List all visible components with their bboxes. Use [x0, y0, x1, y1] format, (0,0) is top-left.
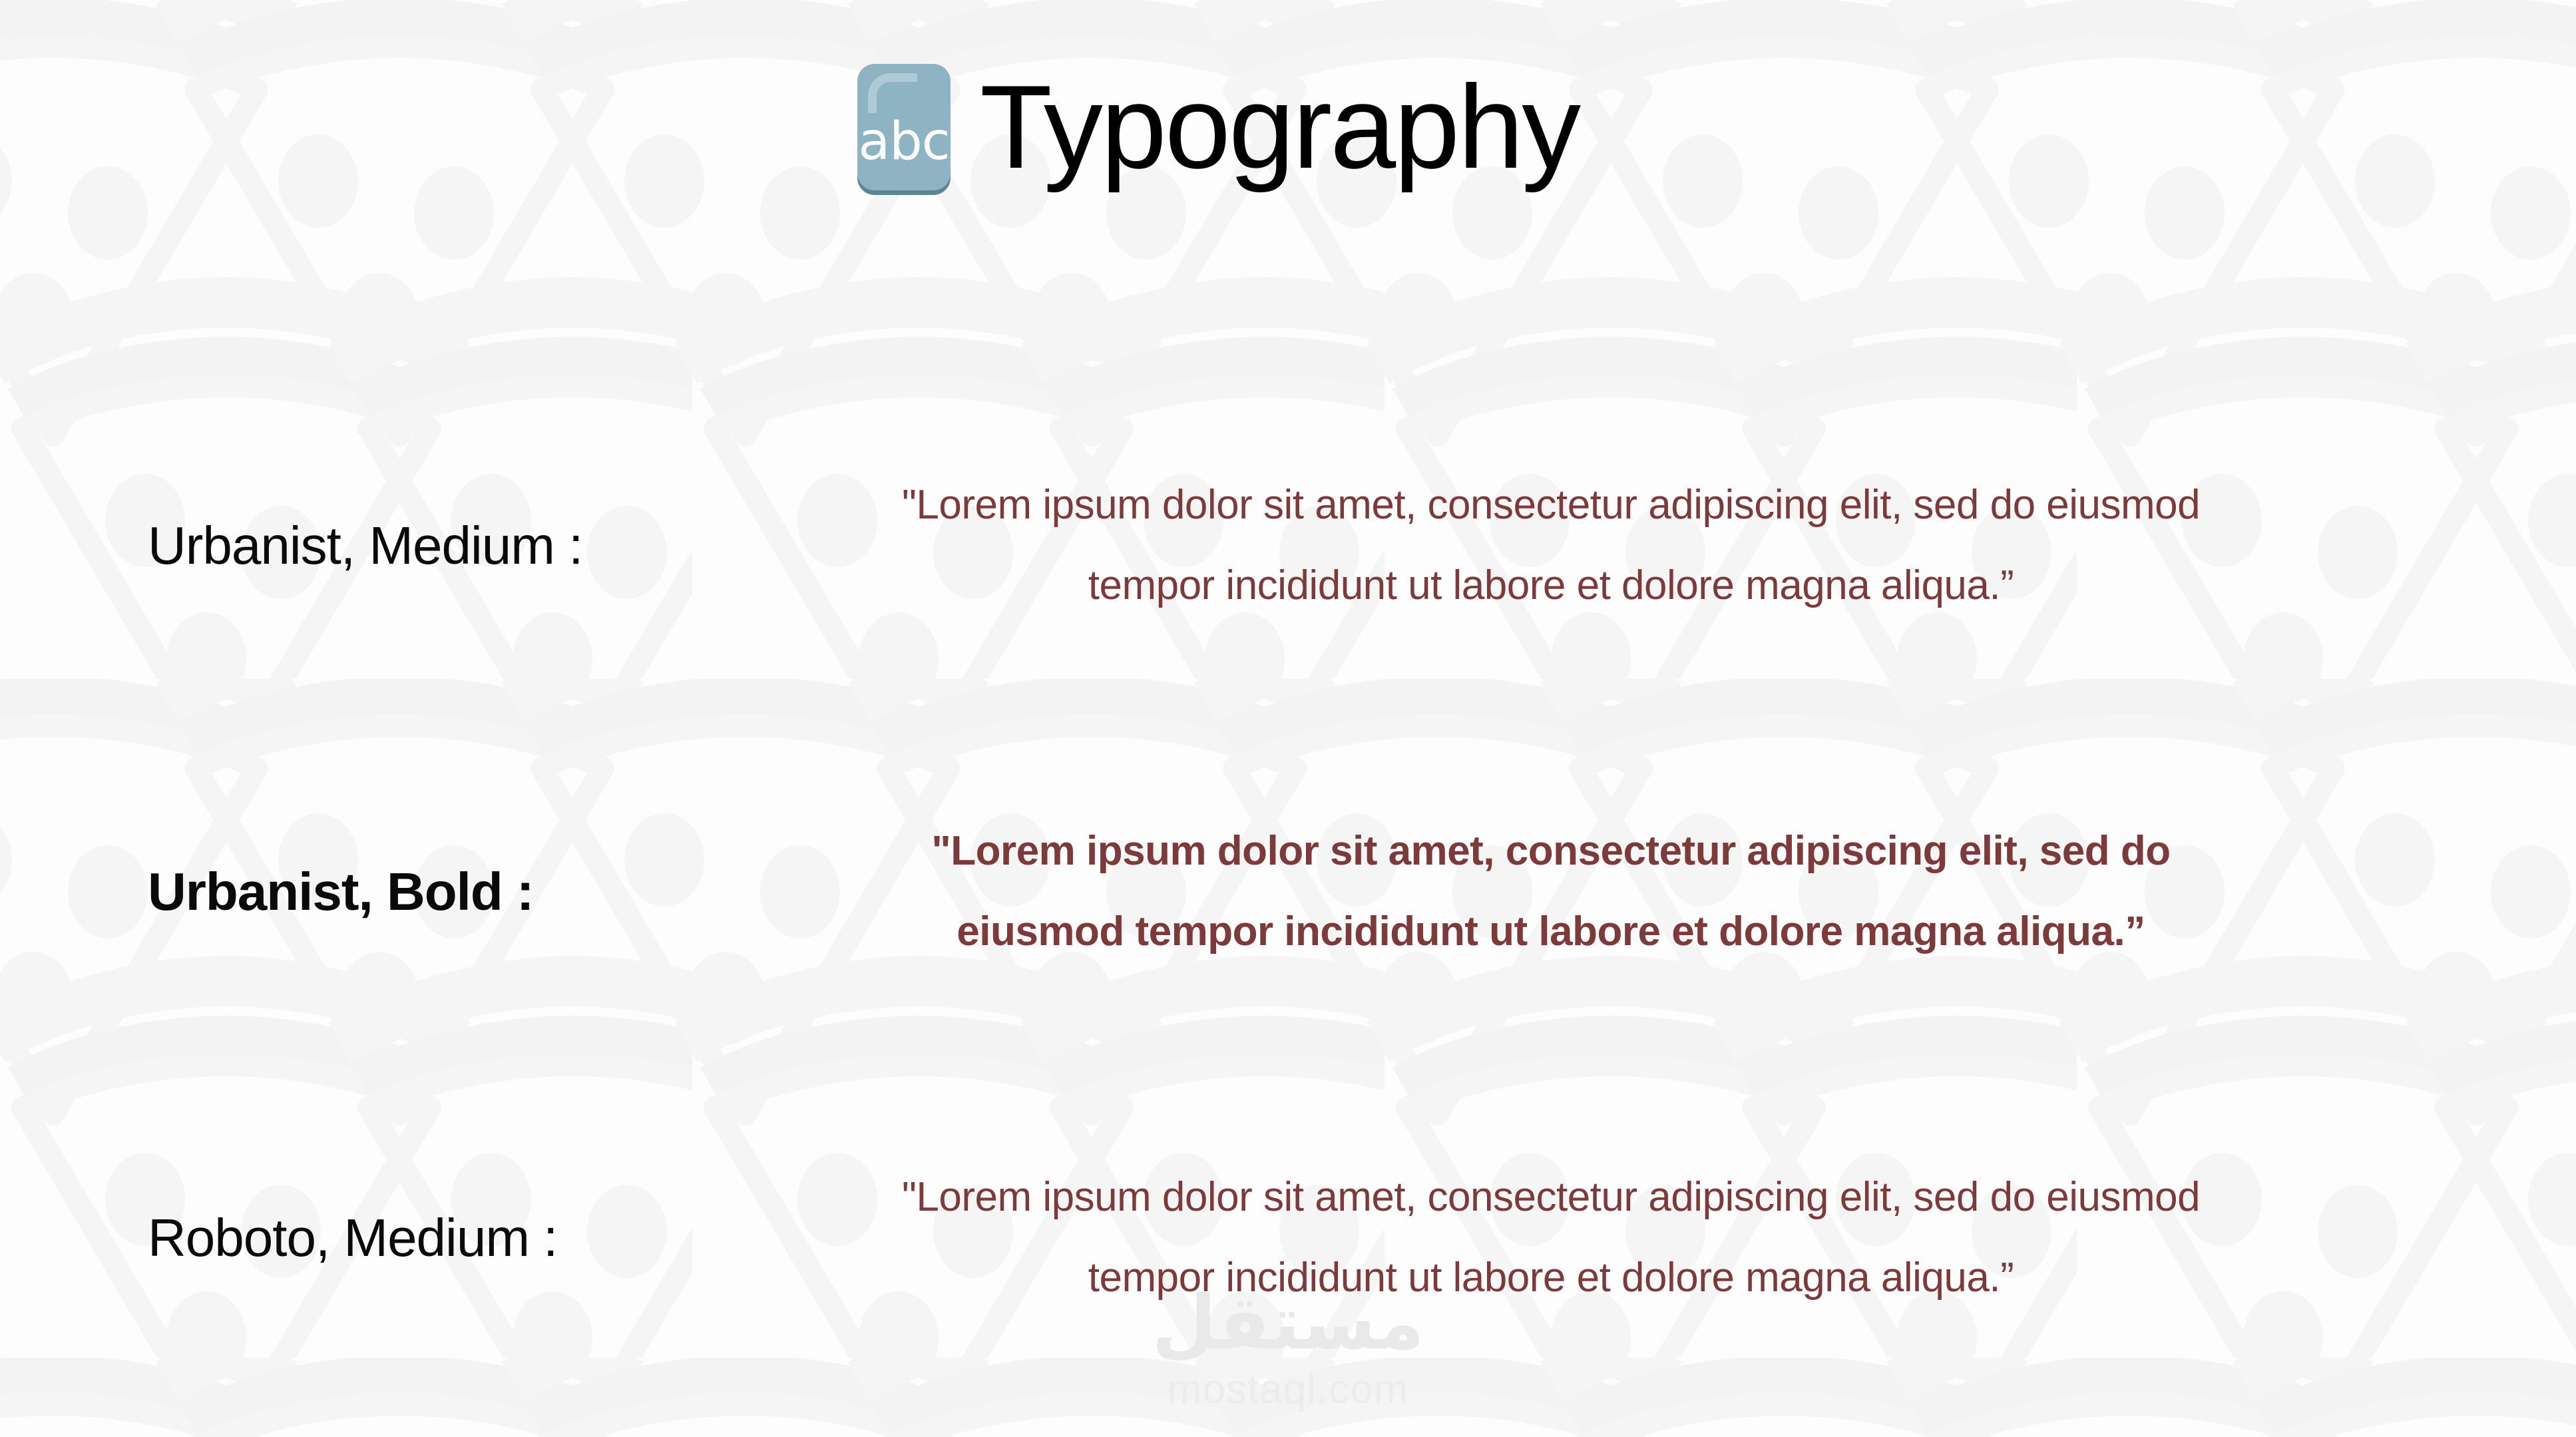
font-label-urbanist-medium: Urbanist, Medium : — [0, 516, 865, 575]
font-label-urbanist-bold: Urbanist, Bold : — [0, 863, 865, 921]
abc-icon: abc — [857, 64, 951, 190]
icon-glare — [868, 73, 917, 113]
page-title: Typography — [980, 68, 1579, 186]
typography-row: Urbanist, Bold : "Lorem ipsum dolor sit … — [0, 719, 2576, 1065]
font-sample-roboto-medium: "Lorem ipsum dolor sit amet, consectetur… — [865, 1157, 2370, 1319]
page-header: abc Typography — [857, 64, 1579, 190]
font-label-roboto-medium: Roboto, Medium : — [0, 1209, 865, 1267]
typography-row: Urbanist, Medium : "Lorem ipsum dolor si… — [0, 373, 2576, 719]
typography-slide: abc Typography Urbanist, Medium : "Lorem… — [0, 0, 2576, 1437]
typography-rows: Urbanist, Medium : "Lorem ipsum dolor si… — [0, 373, 2576, 1411]
abc-icon-label: abc — [857, 116, 951, 168]
font-sample-urbanist-bold: "Lorem ipsum dolor sit amet, consectetur… — [865, 811, 2370, 972]
typography-row: Roboto, Medium : "Lorem ipsum dolor sit … — [0, 1065, 2576, 1411]
font-sample-urbanist-medium: "Lorem ipsum dolor sit amet, consectetur… — [865, 465, 2370, 626]
